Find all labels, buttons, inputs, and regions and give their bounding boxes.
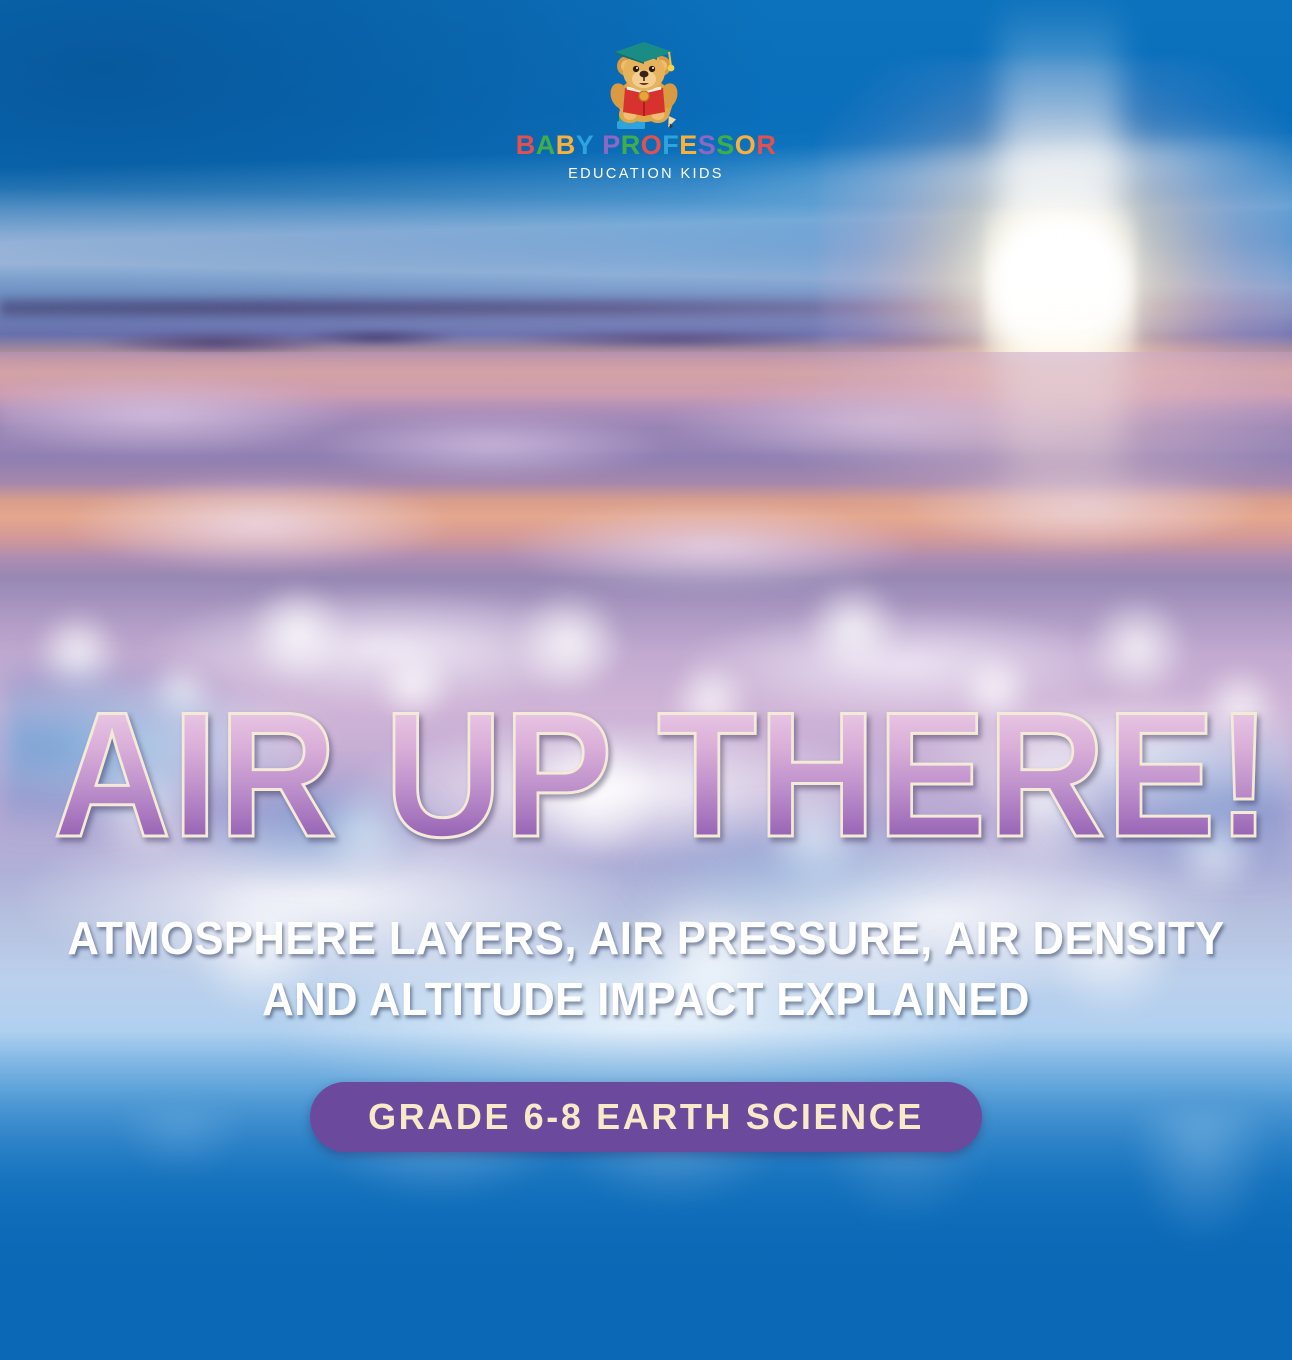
subtitle-line-1: ATMOSPHERE LAYERS, AIR PRESSURE, AIR DEN… [32,908,1259,969]
subtitle-line-2: AND ALTITUDE IMPACT EXPLAINED [32,969,1259,1030]
brand-letter: F [662,132,679,159]
brand-letter: S [716,132,735,159]
brand-letter: A [536,132,556,159]
brand-letter: Y [576,132,595,159]
teddy-bear-graduate-icon [603,38,689,130]
grade-level-badge-label: GRADE 6-8 EARTH SCIENCE [368,1099,924,1135]
brand-letter: B [516,132,536,159]
brand-tagline: EDUCATION KIDS [568,166,724,182]
book-cover: BABY PROFESSOR EDUCATION KIDS AIR UP THE… [0,0,1292,1360]
grade-level-badge: GRADE 6-8 EARTH SCIENCE [310,1082,982,1152]
brand-wordmark: BABY PROFESSOR [516,132,777,159]
brand-letter: O [735,132,757,159]
brand-letter: R [756,132,776,159]
brand-letter: O [641,132,663,159]
brand-letter: R [621,132,641,159]
book-subtitle: ATMOSPHERE LAYERS, AIR PRESSURE, AIR DEN… [32,908,1259,1029]
title-block: AIR UP THERE! [0,690,1292,861]
brand-letter: P [602,132,621,159]
book-title: AIR UP THERE! [53,690,1272,861]
brand-letter: B [556,132,576,159]
publisher-logo: BABY PROFESSOR EDUCATION KIDS [0,38,1292,182]
brand-letter: E [679,132,698,159]
brand-letter: S [698,132,717,159]
brand-letter [594,132,602,159]
